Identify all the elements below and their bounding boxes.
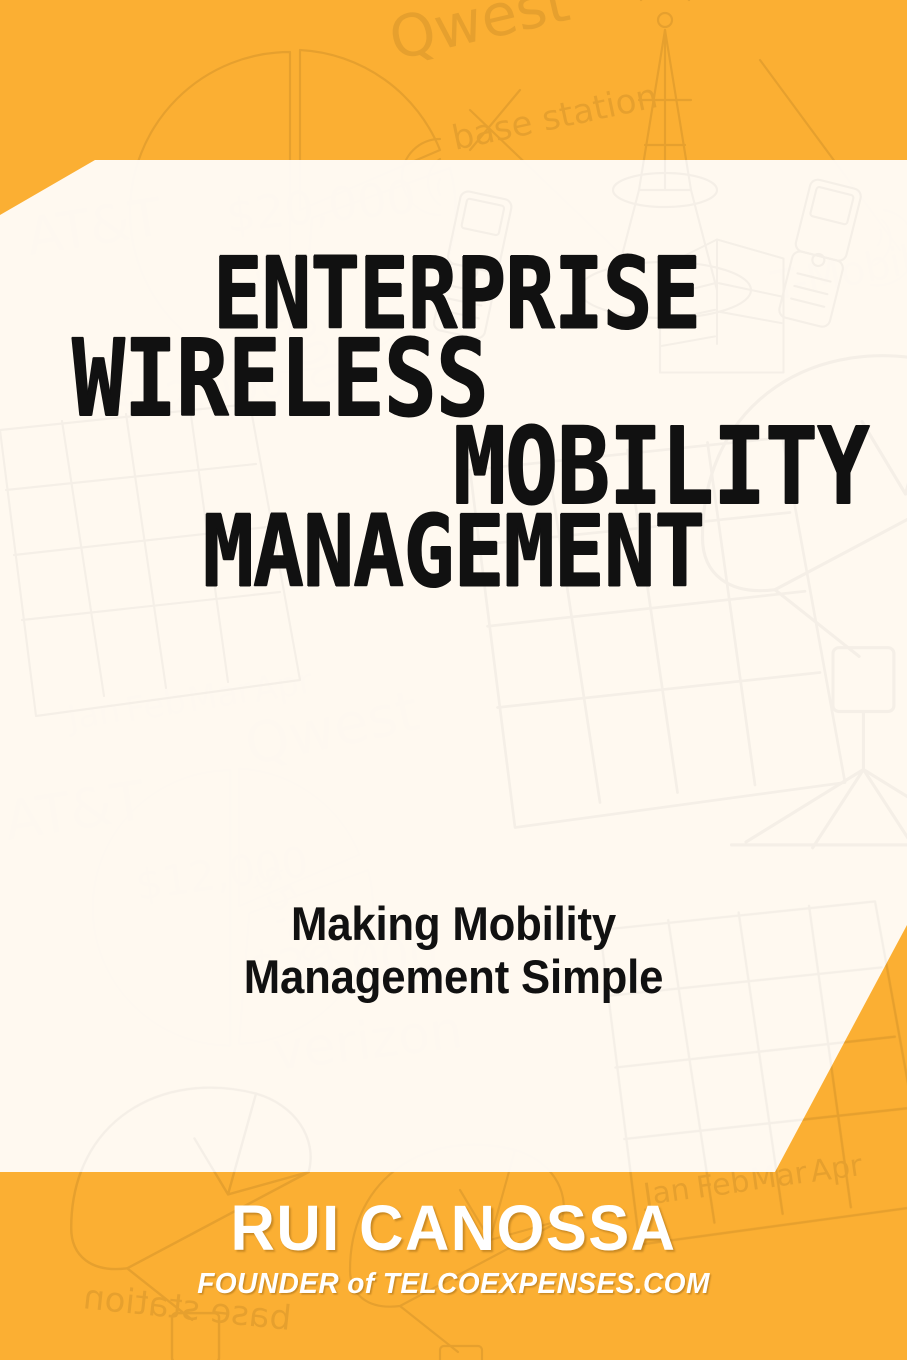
- subtitle-line-2: Management Simple: [32, 951, 876, 1004]
- author-block: RUI CANOSSA FOUNDER of TELCOEXPENSES.COM: [0, 1196, 907, 1299]
- author-name: RUI CANOSSA: [18, 1196, 889, 1260]
- book-subtitle: Making Mobility Management Simple: [32, 898, 876, 1003]
- title-line-4: MANAGEMENT: [0, 508, 907, 599]
- book-title: ENTERPRISE WIRELESS MOBILITY MANAGEMENT: [0, 258, 907, 591]
- book-cover: AT&T Qwest $12,000 $5,000 $20,000 base s…: [0, 0, 907, 1360]
- subtitle-line-1: Making Mobility: [32, 898, 876, 951]
- author-tagline: FOUNDER of TELCOEXPENSES.COM: [14, 1270, 894, 1299]
